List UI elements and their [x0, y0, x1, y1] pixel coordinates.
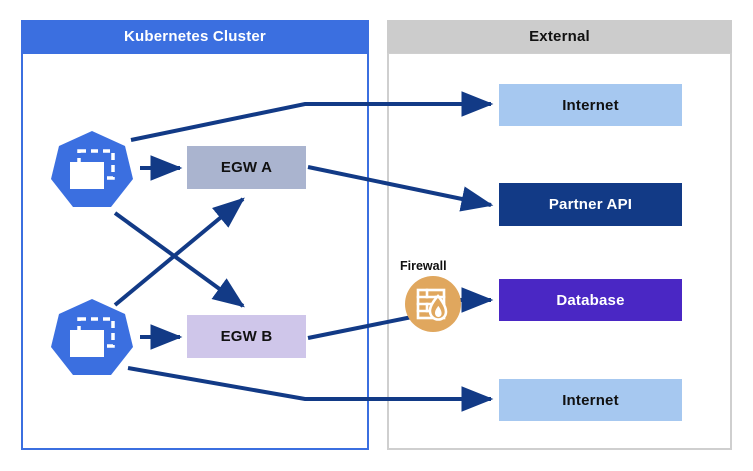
diagram-canvas: Kubernetes Cluster External Firewall [0, 0, 753, 471]
panel-kubernetes-cluster-title: Kubernetes Cluster [21, 20, 369, 53]
node-internet-bottom[interactable]: Internet [499, 379, 682, 421]
panel-kubernetes-cluster-body [21, 52, 369, 450]
kubernetes-pod-icon [49, 129, 135, 213]
node-egw-b[interactable]: EGW B [187, 315, 306, 358]
node-partner-api[interactable]: Partner API [499, 183, 682, 226]
node-internet-bottom-label: Internet [562, 392, 619, 409]
node-partner-api-label: Partner API [549, 196, 632, 213]
firewall-icon [405, 276, 461, 332]
node-egw-b-label: EGW B [221, 328, 273, 345]
node-internet-top-label: Internet [562, 97, 619, 114]
node-database-label: Database [556, 292, 624, 309]
panel-external-title: External [387, 20, 732, 53]
node-database[interactable]: Database [499, 279, 682, 321]
node-internet-top[interactable]: Internet [499, 84, 682, 126]
node-egw-a-label: EGW A [221, 159, 272, 176]
firewall-label: Firewall [400, 259, 447, 273]
node-egw-a[interactable]: EGW A [187, 146, 306, 189]
panel-kubernetes-cluster-header: Kubernetes Cluster [21, 20, 369, 53]
panel-external-header: External [387, 20, 732, 53]
kubernetes-pod-icon [49, 297, 135, 381]
